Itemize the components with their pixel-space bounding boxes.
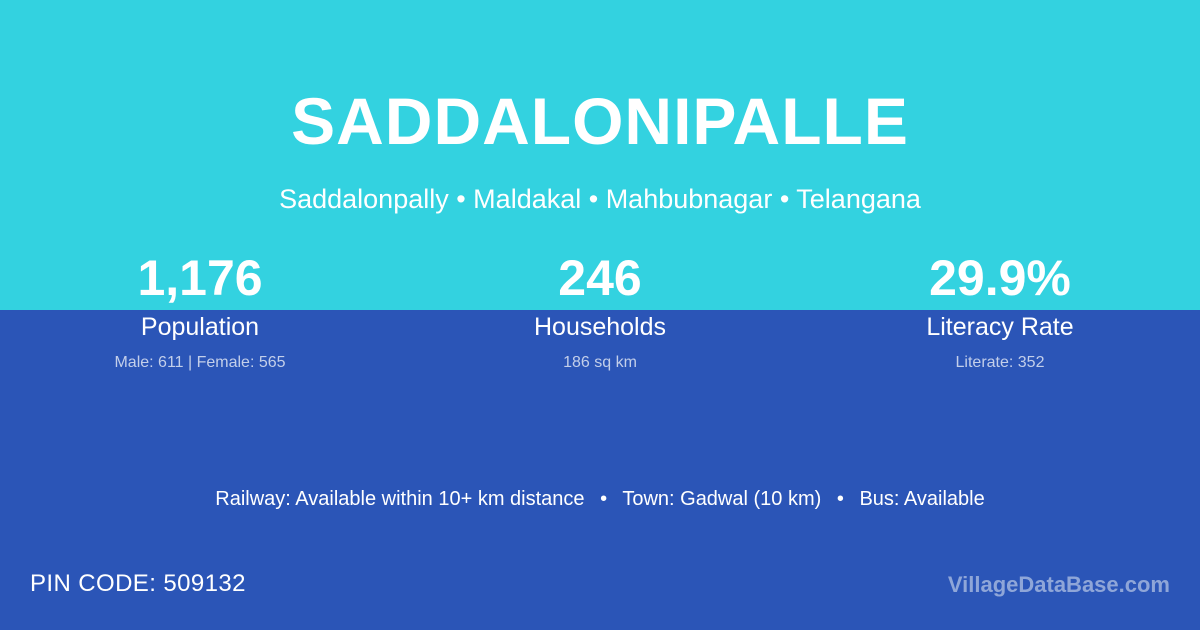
site-brand: VillageDataBase.com	[948, 570, 1170, 600]
stat-value: 29.9%	[800, 248, 1200, 308]
amenity-bus: Bus: Available	[859, 488, 984, 510]
village-info-card: SADDALONIPALLE Saddalonpally • Maldakal …	[0, 0, 1200, 630]
stat-label: Households	[400, 310, 800, 344]
amenity-separator: •	[590, 488, 617, 510]
footer: PIN CODE: 509132 VillageDataBase.com	[0, 554, 1200, 630]
stat-sublabel: Male: 611 | Female: 565	[0, 352, 400, 374]
amenity-separator: •	[827, 488, 854, 510]
stat-label: Literacy Rate	[800, 310, 1200, 344]
pin-code: PIN CODE: 509132	[30, 568, 246, 600]
stat-population: 1,176 Population Male: 611 | Female: 565	[0, 248, 400, 374]
stat-value: 246	[400, 248, 800, 308]
stat-value: 1,176	[0, 248, 400, 308]
amenity-town: Town: Gadwal (10 km)	[622, 488, 821, 510]
stat-households: 246 Households 186 sq km	[400, 248, 800, 374]
breadcrumb: Saddalonpally • Maldakal • Mahbubnagar •…	[0, 182, 1200, 216]
amenity-railway: Railway: Available within 10+ km distanc…	[215, 488, 584, 510]
stat-label: Population	[0, 310, 400, 344]
page-title: SADDALONIPALLE	[0, 82, 1200, 160]
stats-row: 1,176 Population Male: 611 | Female: 565…	[0, 248, 1200, 374]
stat-literacy-rate: 29.9% Literacy Rate Literate: 352	[800, 248, 1200, 374]
amenities-line: Railway: Available within 10+ km distanc…	[0, 484, 1200, 514]
stat-sublabel: Literate: 352	[800, 352, 1200, 374]
stat-sublabel: 186 sq km	[400, 352, 800, 374]
